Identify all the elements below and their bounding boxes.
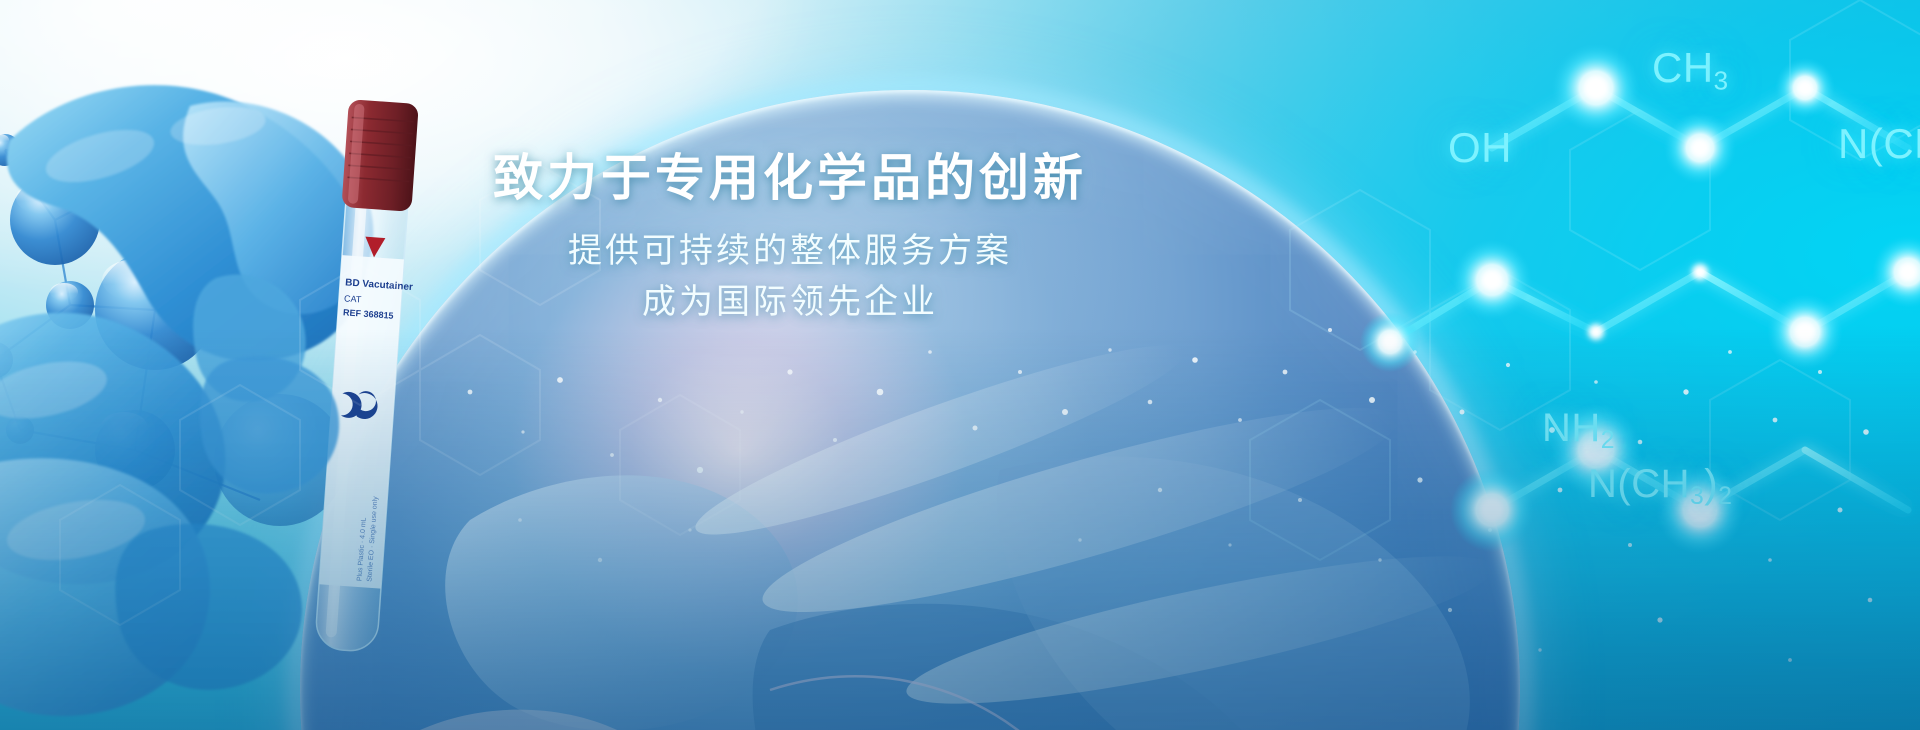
chem-label-n-ch3-2-b: ) bbox=[1704, 462, 1718, 506]
chemical-structure-lattice bbox=[1230, 0, 1920, 680]
hero-subline-2: 成为国际领先企业 bbox=[490, 277, 1090, 328]
chem-label-ch3-text: CH bbox=[1652, 44, 1714, 91]
chem-label-n-ch3-2-sub1: 3 bbox=[1690, 483, 1704, 510]
chem-label-n-ch3-2-a: N(CH bbox=[1588, 462, 1690, 506]
chem-label-n-ch3-2: N(CH3)2 bbox=[1588, 462, 1732, 511]
chem-label-ch3-sub: 3 bbox=[1714, 65, 1729, 95]
chem-label-nh2: NH2 bbox=[1542, 406, 1615, 455]
gloved-hand-with-specimen-tube: BD Vacutainer CAT REF 368815 Sterile EO … bbox=[0, 60, 450, 730]
tube-cat-text: CAT bbox=[344, 293, 362, 304]
hero-headline: 致力于专用化学品的创新 bbox=[490, 150, 1090, 208]
hero-banner: CH3 OH N(CH NH2 N(CH3)2 bbox=[0, 0, 1920, 730]
chem-label-nh2-sub: 2 bbox=[1601, 427, 1615, 454]
hero-subline-1: 提供可持续的整体服务方案 bbox=[490, 226, 1090, 277]
hero-copy-block: 致力于专用化学品的创新 提供可持续的整体服务方案 成为国际领先企业 bbox=[490, 150, 1090, 328]
chem-label-n-ch3-2-sub2: 2 bbox=[1718, 483, 1732, 510]
chem-label-ch3: CH3 bbox=[1652, 44, 1729, 96]
chem-label-oh: OH bbox=[1448, 124, 1512, 172]
chem-label-nh2-text: NH bbox=[1542, 406, 1601, 450]
chem-label-nch-right: N(CH bbox=[1838, 120, 1920, 168]
